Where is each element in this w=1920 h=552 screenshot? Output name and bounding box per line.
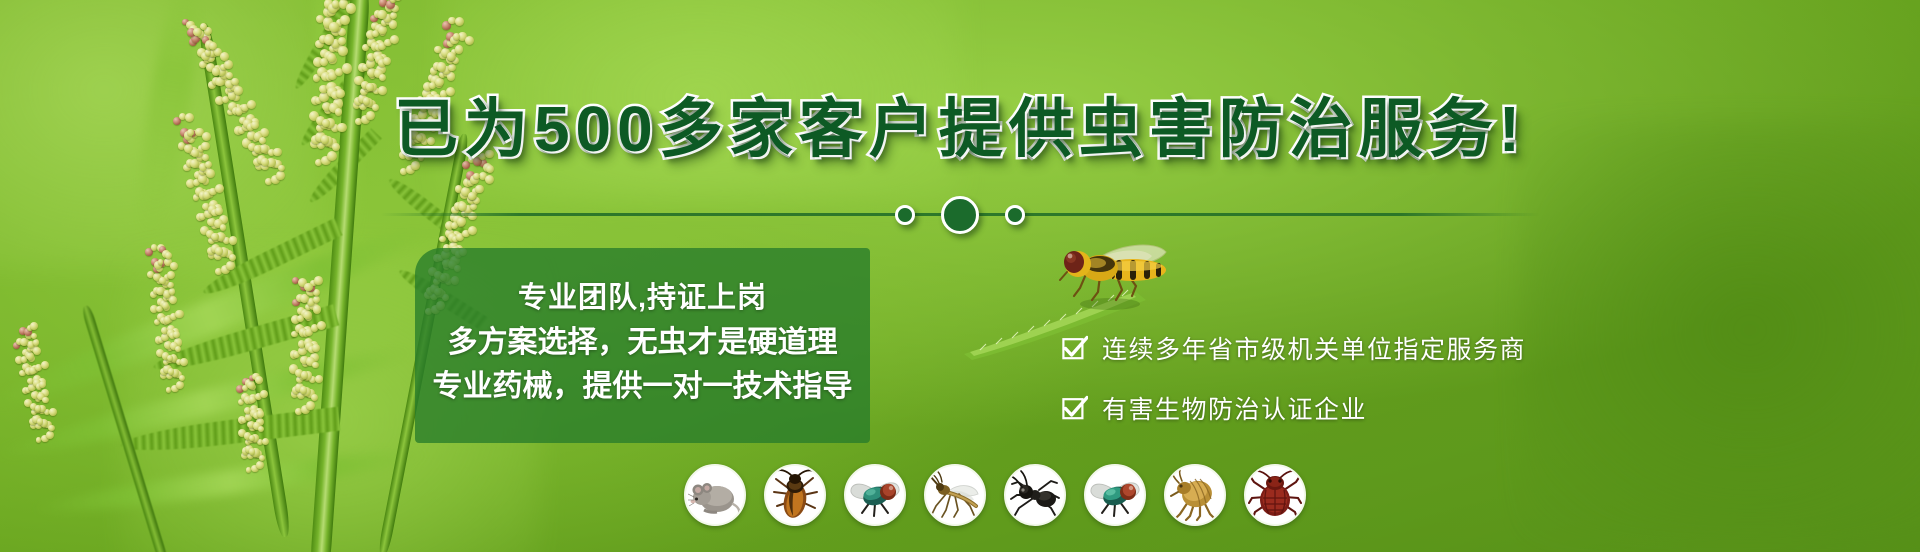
- catkin-bead: [465, 36, 474, 45]
- catkin-bead: [378, 26, 386, 34]
- banner-headline: 已为500多家客户提供虫害防治服务!: [0, 78, 1920, 170]
- dot-small-left: [895, 205, 915, 225]
- catkin-bead: [35, 405, 42, 412]
- catkin-bead: [30, 322, 38, 330]
- flea-icon[interactable]: [1164, 464, 1226, 526]
- mouse-icon[interactable]: [684, 464, 746, 526]
- catkin-bead: [312, 344, 320, 352]
- dot-small-right: [1005, 205, 1025, 225]
- catkin-bead: [169, 296, 177, 304]
- panel-line-3: 专业药械，提供一对一技术指导: [433, 367, 853, 408]
- catkin-bead: [46, 431, 54, 439]
- catkin-bead: [257, 410, 264, 417]
- ant-icon[interactable]: [1004, 464, 1066, 526]
- catkin-bead: [168, 368, 175, 375]
- catkin-bead: [255, 376, 263, 384]
- catkin-bead: [212, 67, 220, 75]
- catkin-bead: [259, 455, 265, 461]
- catkin-bead: [33, 347, 41, 355]
- catkin-bead: [167, 271, 175, 279]
- selling-points-panel: 专业团队,持证上岗 多方案选择，无虫才是硬道理 专业药械，提供一对一技术指导: [415, 248, 870, 443]
- bedbug-icon[interactable]: [1244, 464, 1306, 526]
- catkin-bead: [447, 52, 455, 60]
- catkin-bead: [332, 0, 339, 7]
- catkin-bead: [249, 448, 256, 455]
- catkin-bead: [179, 375, 185, 381]
- catkin-bead: [342, 63, 352, 73]
- catkin-bead: [383, 57, 391, 65]
- catkin-bead: [300, 294, 309, 303]
- blowfly-icon[interactable]: [1084, 464, 1146, 526]
- mosquito-icon[interactable]: [924, 464, 986, 526]
- catkin-bead: [346, 3, 356, 13]
- catkin-bead: [312, 362, 319, 369]
- catkin-bead: [338, 37, 346, 45]
- catkin-bead: [26, 352, 33, 359]
- headline-text: 已为500多家客户提供虫害防治服务!: [394, 78, 1526, 170]
- catkin-bead: [229, 236, 238, 245]
- catkin-bead: [485, 175, 494, 184]
- catkin-bead: [20, 338, 28, 346]
- panel-line-1: 专业团队,持证上岗: [518, 279, 767, 318]
- catkin-bead: [165, 252, 172, 259]
- catkin-bead: [215, 247, 222, 254]
- catkin-bead: [453, 33, 460, 40]
- catkin-bead: [329, 22, 338, 31]
- catkin-bead: [340, 15, 350, 25]
- catkin-bead: [247, 381, 254, 388]
- checklist-item: 连续多年省市级机关单位指定服务商: [1062, 330, 1526, 366]
- catkin-bead: [324, 35, 334, 45]
- check-square-icon: [1062, 395, 1088, 421]
- catkin-bead: [313, 296, 320, 303]
- catkin-bead: [256, 461, 264, 469]
- catkin-bead: [200, 23, 207, 30]
- plant-frond: [119, 407, 340, 458]
- catkin-bead: [377, 10, 386, 19]
- catkin-bead: [448, 64, 455, 71]
- catkin-bead: [42, 397, 48, 403]
- catkin-bead: [205, 49, 212, 56]
- catkin-bead: [314, 276, 323, 285]
- pest-icon-strip: [684, 464, 1306, 526]
- catkin-bead: [224, 60, 233, 69]
- background-blur-blob: [1520, 120, 1920, 540]
- credentials-checklist: 连续多年省市级机关单位指定服务商 有害生物防治认证企业: [1062, 330, 1526, 426]
- catkin-bead: [437, 62, 446, 71]
- catkin-bead: [276, 171, 285, 180]
- catkin-bead: [209, 42, 217, 50]
- catkin-bead: [173, 331, 180, 338]
- decorative-dots: [0, 196, 1920, 234]
- catkin-bead: [475, 185, 484, 194]
- cockroach-icon[interactable]: [764, 464, 826, 526]
- catkin-bead: [455, 45, 464, 54]
- pest-control-banner: 已为500多家客户提供虫害防治服务! 专业团队,持证上岗 多方案选择，无虫才是硬…: [0, 0, 1920, 552]
- catkin-bead: [390, 35, 399, 44]
- dot-large-center: [941, 196, 979, 234]
- catkin-bead: [41, 361, 49, 369]
- catkin-bead: [338, 46, 348, 56]
- catkin-bead: [175, 310, 183, 318]
- catkin-bead: [311, 394, 318, 401]
- panel-line-2: 多方案选择，无虫才是硬道理: [448, 323, 838, 364]
- catkin-bead: [169, 288, 175, 294]
- catkin-bead: [300, 386, 307, 393]
- catkin-bead: [33, 339, 39, 345]
- catkin-bead: [180, 358, 188, 366]
- catkin-bead: [206, 169, 215, 178]
- catkin-bead: [317, 321, 326, 330]
- catkin-bead: [455, 17, 464, 26]
- catkin-bead: [170, 262, 178, 270]
- catkin-bead: [49, 408, 57, 416]
- catkin-bead: [37, 418, 44, 425]
- catkin-bead: [48, 425, 54, 431]
- checklist-label: 有害生物防治认证企业: [1102, 390, 1367, 426]
- check-square-icon: [1062, 335, 1088, 361]
- catkin-bead: [39, 381, 46, 388]
- catkin-bead: [301, 371, 308, 378]
- catkin-bead: [176, 381, 184, 389]
- catkin-bead: [390, 12, 397, 19]
- catkin-bead: [313, 305, 322, 314]
- checklist-label: 连续多年省市级机关单位指定服务商: [1102, 330, 1526, 366]
- catkin-bead: [439, 236, 446, 243]
- checklist-item: 有害生物防治认证企业: [1062, 390, 1526, 426]
- catkin-bead: [303, 311, 311, 319]
- fly-icon[interactable]: [844, 464, 906, 526]
